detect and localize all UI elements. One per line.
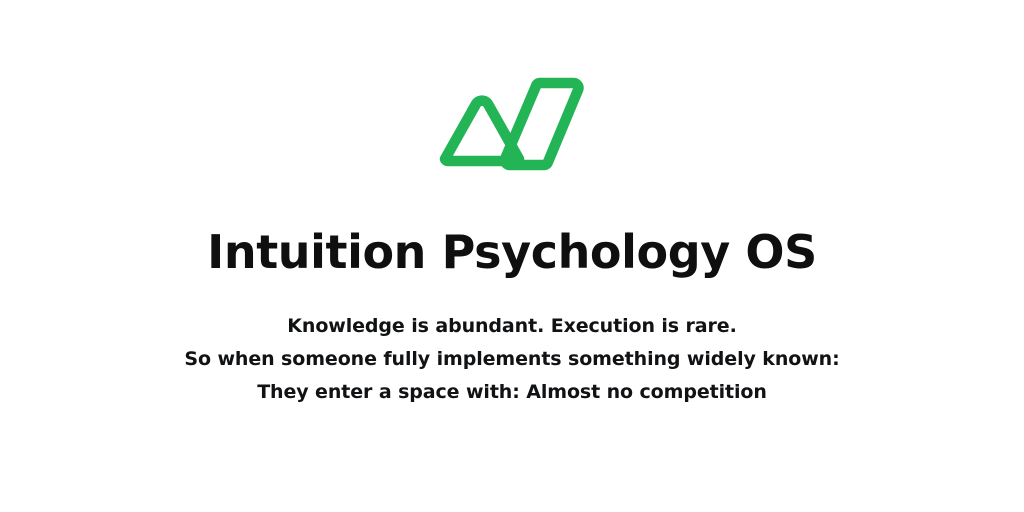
brand-n-mark-icon: [439, 76, 585, 172]
title-slide: Intuition Psychology OS Knowledge is abu…: [0, 0, 1024, 512]
page-title: Intuition Psychology OS: [207, 228, 817, 276]
subtitle-line-1: Knowledge is abundant. Execution is rare…: [287, 310, 736, 343]
subtitle-block: Knowledge is abundant. Execution is rare…: [184, 310, 839, 409]
brand-logo: [439, 76, 585, 172]
subtitle-line-3: They enter a space with: Almost no compe…: [257, 376, 767, 409]
subtitle-line-2: So when someone fully implements somethi…: [184, 343, 839, 376]
